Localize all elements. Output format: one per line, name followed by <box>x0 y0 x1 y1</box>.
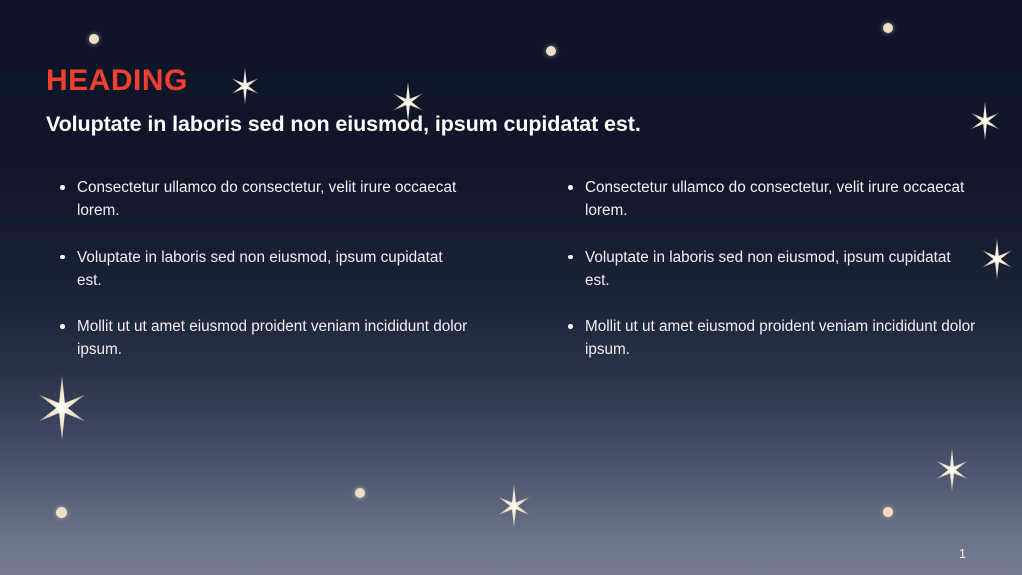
list-item: Mollit ut ut amet eiusmod proident venia… <box>554 315 976 362</box>
bullet-point-icon <box>568 255 573 260</box>
list-item-label: Consectetur ullamco do consectetur, veli… <box>585 179 964 219</box>
list-item-label: Mollit ut ut amet eiusmod proident venia… <box>77 318 467 358</box>
list-item-label: Mollit ut ut amet eiusmod proident venia… <box>585 318 975 358</box>
list-item-label: Consectetur ullamco do consectetur, veli… <box>77 179 456 219</box>
bullet-list-right: Consectetur ullamco do consectetur, veli… <box>554 176 976 362</box>
slide-canvas: HEADING Voluptate in laboris sed non eiu… <box>0 0 1022 575</box>
bullet-point-icon <box>60 185 65 190</box>
list-item: Consectetur ullamco do consectetur, veli… <box>554 176 976 223</box>
page-title: HEADING <box>46 64 188 97</box>
list-item-label: Voluptate in laboris sed non eiusmod, ip… <box>77 249 443 289</box>
list-item: Mollit ut ut amet eiusmod proident venia… <box>46 315 468 362</box>
bullet-columns: Consectetur ullamco do consectetur, veli… <box>46 176 976 362</box>
list-item-label: Voluptate in laboris sed non eiusmod, ip… <box>585 249 951 289</box>
bullet-column-right: Consectetur ullamco do consectetur, veli… <box>554 176 976 362</box>
slide-subtitle: Voluptate in laboris sed non eiusmod, ip… <box>46 111 641 138</box>
slide-content: HEADING Voluptate in laboris sed non eiu… <box>0 0 1022 575</box>
list-item: Voluptate in laboris sed non eiusmod, ip… <box>46 246 468 293</box>
bullet-point-icon <box>60 255 65 260</box>
bullet-point-icon <box>568 185 573 190</box>
bullet-column-left: Consectetur ullamco do consectetur, veli… <box>46 176 468 362</box>
heading-row: HEADING <box>46 64 188 97</box>
page-number: 1 <box>959 547 966 561</box>
bullet-list-left: Consectetur ullamco do consectetur, veli… <box>46 176 468 362</box>
bullet-point-icon <box>568 324 573 329</box>
list-item: Voluptate in laboris sed non eiusmod, ip… <box>554 246 976 293</box>
list-item: Consectetur ullamco do consectetur, veli… <box>46 176 468 223</box>
bullet-point-icon <box>60 324 65 329</box>
